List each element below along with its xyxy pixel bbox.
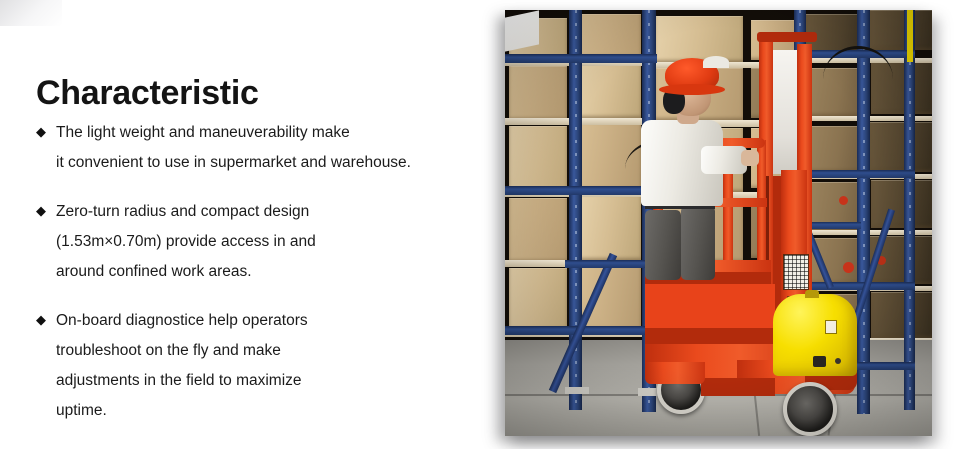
diamond-bullet-icon: ◆ (36, 307, 46, 332)
bullet-text-line: uptime. (56, 396, 486, 426)
drive-wheel (783, 382, 837, 436)
bullet-text-line: The light weight and maneuverability mak… (56, 118, 486, 148)
bullet-text-line: (1.53m×0.70m) provide access in and (56, 227, 486, 257)
characteristic-bullet-list: ◆ The light weight and maneuverability m… (36, 118, 486, 426)
rack-upright (904, 10, 915, 410)
corner-gradient-decoration (0, 0, 62, 26)
list-item: ◆ On-board diagnostice help operators tr… (36, 306, 486, 426)
diamond-bullet-icon: ◆ (36, 198, 46, 223)
bullet-text-line: troubleshoot on the fly and make (56, 336, 486, 366)
bullet-text-line: On-board diagnostice help operators (56, 306, 486, 336)
diamond-bullet-icon: ◆ (36, 119, 46, 144)
bullet-text-line: around confined work areas. (56, 257, 486, 287)
list-item: ◆ Zero-turn radius and compact design (1… (36, 197, 486, 287)
bullet-text-line: adjustments in the field to maximize (56, 366, 486, 396)
warehouse-scene (505, 10, 932, 436)
slide-canvas: Characteristic ◆ The light weight and ma… (0, 0, 956, 449)
bullet-text-line: it convenient to use in supermarket and … (56, 148, 486, 178)
text-column: Characteristic ◆ The light weight and ma… (36, 74, 486, 426)
page-title: Characteristic (36, 74, 486, 112)
bullet-text-line: Zero-turn radius and compact design (56, 197, 486, 227)
list-item: ◆ The light weight and maneuverability m… (36, 118, 486, 178)
product-photo (505, 10, 932, 436)
capacity-chart-decal (783, 254, 809, 290)
